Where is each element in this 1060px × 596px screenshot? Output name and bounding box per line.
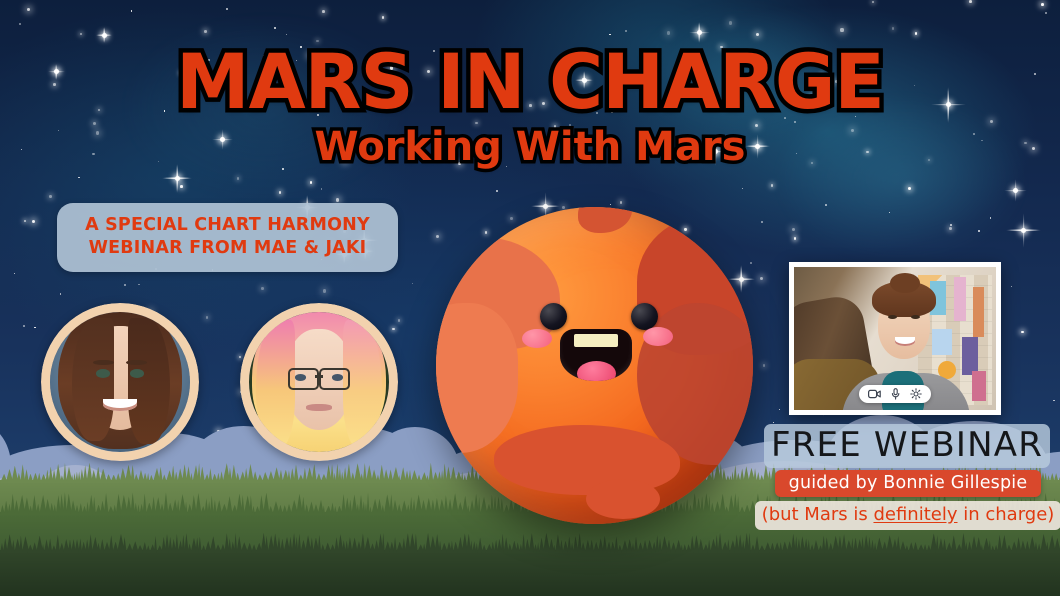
mars-cheek-left — [522, 329, 552, 348]
star-sparkle — [1004, 179, 1027, 202]
grass-blade — [733, 465, 737, 483]
avatar-ring — [41, 303, 199, 461]
disclaimer-post: in charge) — [958, 504, 1055, 525]
star — [180, 185, 183, 188]
free-webinar-banner: FREE WEBINAR — [764, 424, 1050, 468]
grass-blade — [158, 467, 163, 483]
grass-blade — [722, 469, 727, 483]
star — [792, 228, 795, 231]
star — [485, 231, 487, 233]
grass-blade — [896, 536, 900, 553]
star — [336, 198, 339, 201]
grass-blade — [130, 465, 135, 483]
grass-blade — [236, 536, 242, 553]
avatar-ring — [240, 303, 398, 461]
star — [756, 33, 759, 36]
title-block: MARS IN CHARGE Working With Mars — [0, 46, 1060, 167]
star — [124, 284, 125, 285]
star — [510, 217, 513, 220]
grass-blade — [666, 540, 671, 554]
star — [24, 220, 26, 222]
grass-blade — [19, 536, 23, 553]
grass-blade — [208, 468, 212, 483]
grass-blade — [109, 535, 114, 553]
grass-blade — [698, 539, 704, 553]
star — [261, 287, 264, 290]
grass-blade — [146, 473, 149, 483]
star — [1041, 3, 1044, 6]
star — [131, 10, 132, 11]
star — [49, 195, 52, 198]
grass-blade — [1001, 535, 1008, 553]
grass-blade — [841, 534, 847, 553]
grass-blade — [824, 537, 829, 553]
star — [412, 283, 413, 284]
grass-blade — [634, 537, 639, 553]
star — [872, 1, 874, 3]
grass-blade — [529, 533, 535, 553]
badge-line-1: A SPECIAL CHART HARMONY — [67, 214, 388, 237]
avatar-jaki — [240, 303, 398, 461]
star — [950, 224, 952, 226]
star — [382, 16, 384, 18]
star-sparkle — [162, 164, 192, 194]
guided-by-text: guided by Bonnie Gillespie — [783, 473, 1033, 493]
star — [279, 191, 282, 194]
grass-blade — [807, 539, 810, 553]
mars-eye-right — [631, 303, 658, 330]
star — [204, 30, 207, 33]
grass-blade — [234, 533, 237, 553]
grass-blade — [754, 536, 759, 553]
star — [436, 235, 439, 238]
grass-blade — [360, 533, 365, 553]
grass-blade — [727, 539, 730, 553]
star — [915, 32, 917, 34]
star-sparkle — [96, 27, 112, 43]
grass-layer-front — [0, 550, 1060, 596]
star — [32, 220, 35, 223]
grass-blade — [501, 534, 505, 553]
star — [80, 33, 82, 35]
star — [620, 201, 623, 204]
guided-by-banner: guided by Bonnie Gillespie — [775, 470, 1041, 497]
mars-character — [436, 207, 753, 524]
grass-blade — [708, 496, 711, 515]
star — [825, 204, 827, 206]
gear-icon[interactable] — [910, 388, 922, 400]
grass-blade — [252, 506, 255, 515]
star — [1011, 286, 1012, 287]
grass-blade — [477, 537, 482, 553]
grass-blade — [92, 497, 96, 515]
grass-blade — [226, 496, 233, 515]
star — [19, 23, 21, 25]
video-call-window[interactable] — [789, 262, 1001, 415]
grass-blade — [346, 464, 352, 483]
star — [27, 8, 30, 11]
video-controls-bar[interactable] — [859, 385, 931, 403]
grass-blade — [123, 537, 127, 553]
star — [609, 34, 611, 36]
grass-blade — [602, 536, 607, 553]
star — [771, 184, 773, 186]
grass-blade — [736, 496, 739, 515]
star — [226, 8, 228, 10]
promo-graphic: MARS IN CHARGE Working With Mars A SPECI… — [0, 0, 1060, 596]
grass-blade — [249, 495, 252, 515]
badge-line-2: WEBINAR FROM MAE & JAKI — [67, 237, 388, 260]
star — [562, 206, 565, 209]
star — [14, 273, 15, 274]
grass-blade — [311, 464, 317, 483]
star — [323, 289, 326, 292]
star — [949, 227, 952, 230]
grass-blade — [265, 536, 269, 553]
grass-blade — [393, 537, 397, 553]
star — [310, 181, 313, 184]
grass-blade — [198, 537, 202, 554]
star — [908, 187, 911, 190]
grass-blade — [951, 535, 957, 553]
page-title: MARS IN CHARGE — [16, 46, 1044, 119]
star — [760, 277, 763, 280]
grass-blade — [197, 463, 200, 483]
grass-blade — [294, 464, 300, 483]
star — [742, 188, 743, 189]
grass-blade — [210, 536, 217, 553]
star — [237, 177, 239, 179]
grass-blade — [1054, 538, 1060, 553]
grass-blade — [297, 534, 301, 553]
disclaimer-emphasis: definitely — [873, 504, 957, 525]
grass-blade — [614, 536, 618, 553]
microphone-icon[interactable] — [891, 388, 900, 400]
grass-blade — [935, 535, 938, 553]
star — [60, 293, 62, 295]
grass-blade — [414, 534, 418, 553]
grass-blade — [48, 538, 53, 553]
star — [610, 204, 611, 205]
mars-tongue — [577, 361, 616, 381]
avatar-mae — [41, 303, 199, 461]
disclaimer-pre: (but Mars is — [762, 504, 874, 525]
grass-blade — [88, 534, 92, 553]
page-subtitle: Working With Mars — [0, 127, 1060, 167]
disclaimer-banner: (but Mars is definitely in charge) — [755, 501, 1060, 530]
grass-blade — [461, 471, 464, 483]
star-sparkle — [1006, 213, 1041, 248]
video-feed — [794, 267, 996, 410]
grass-blade — [175, 534, 179, 553]
star — [78, 177, 80, 179]
grass-blade — [55, 464, 61, 483]
grass-blade — [707, 540, 710, 553]
disclaimer-text: (but Mars is definitely in charge) — [761, 504, 1055, 525]
grass-blade — [200, 467, 205, 483]
star — [729, 21, 732, 24]
video-camera-icon[interactable] — [868, 389, 881, 399]
star — [840, 28, 843, 31]
mars-mouth — [560, 329, 632, 381]
star — [969, 0, 972, 3]
grass-blade — [577, 533, 582, 553]
grass-blade — [37, 473, 41, 483]
mars-cheek-right — [643, 327, 673, 346]
star — [282, 168, 284, 170]
star — [761, 221, 762, 222]
star — [889, 212, 890, 213]
grass-blade — [318, 535, 322, 553]
star — [794, 237, 797, 240]
grass-blade — [500, 498, 505, 515]
star — [321, 188, 323, 190]
star — [138, 284, 139, 285]
grass-blade — [408, 470, 412, 483]
star — [978, 230, 980, 232]
star — [892, 27, 894, 29]
star — [286, 34, 287, 35]
grass-blade — [478, 497, 481, 515]
grass-blade — [450, 541, 453, 553]
grass-blade — [942, 539, 946, 553]
star — [1045, 12, 1047, 14]
grass-blade — [522, 534, 526, 553]
free-webinar-text: FREE WEBINAR — [770, 427, 1044, 463]
grass-blade — [55, 535, 60, 553]
grass-blade — [301, 497, 305, 515]
star — [274, 27, 276, 29]
grass-blade — [241, 495, 245, 515]
grass-blade — [719, 463, 723, 483]
mars-teeth — [574, 334, 618, 347]
mars-eye-left — [540, 303, 567, 330]
star — [625, 30, 627, 32]
star — [990, 217, 992, 219]
star — [322, 10, 325, 13]
star — [667, 31, 670, 34]
grass-blade — [154, 536, 157, 553]
grass-blade — [913, 542, 919, 553]
grass-blade — [213, 500, 217, 515]
star — [496, 190, 498, 192]
webinar-badge: A SPECIAL CHART HARMONY WEBINAR FROM MAE… — [57, 203, 398, 272]
